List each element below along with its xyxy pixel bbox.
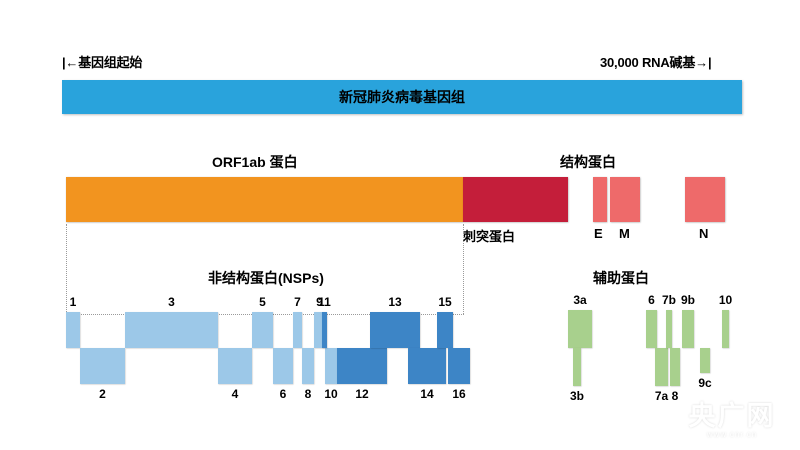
accessory-block — [670, 348, 680, 386]
accessory-block — [655, 348, 668, 386]
accessory-block — [646, 310, 657, 348]
accessory-block — [682, 310, 694, 348]
accessory-block — [666, 310, 672, 348]
accessory-block — [568, 310, 592, 348]
accessory-label: 3a — [566, 293, 594, 307]
accessory-label: 9b — [674, 293, 702, 307]
accessory-label: 10 — [712, 293, 740, 307]
accessory-label: 9c — [691, 376, 719, 390]
accessory-label: 8 — [661, 389, 689, 403]
accessory-label: 3b — [563, 389, 591, 403]
accessory-block — [722, 310, 729, 348]
accessory-block — [700, 348, 710, 373]
accessory-track: 3a3b67a7b89b9c10 — [0, 0, 800, 450]
accessory-block — [573, 348, 581, 386]
diagram-canvas: |←基因组起始 30,000 RNA碱基→| 新冠肺炎病毒基因组 ORF1ab … — [0, 0, 800, 450]
